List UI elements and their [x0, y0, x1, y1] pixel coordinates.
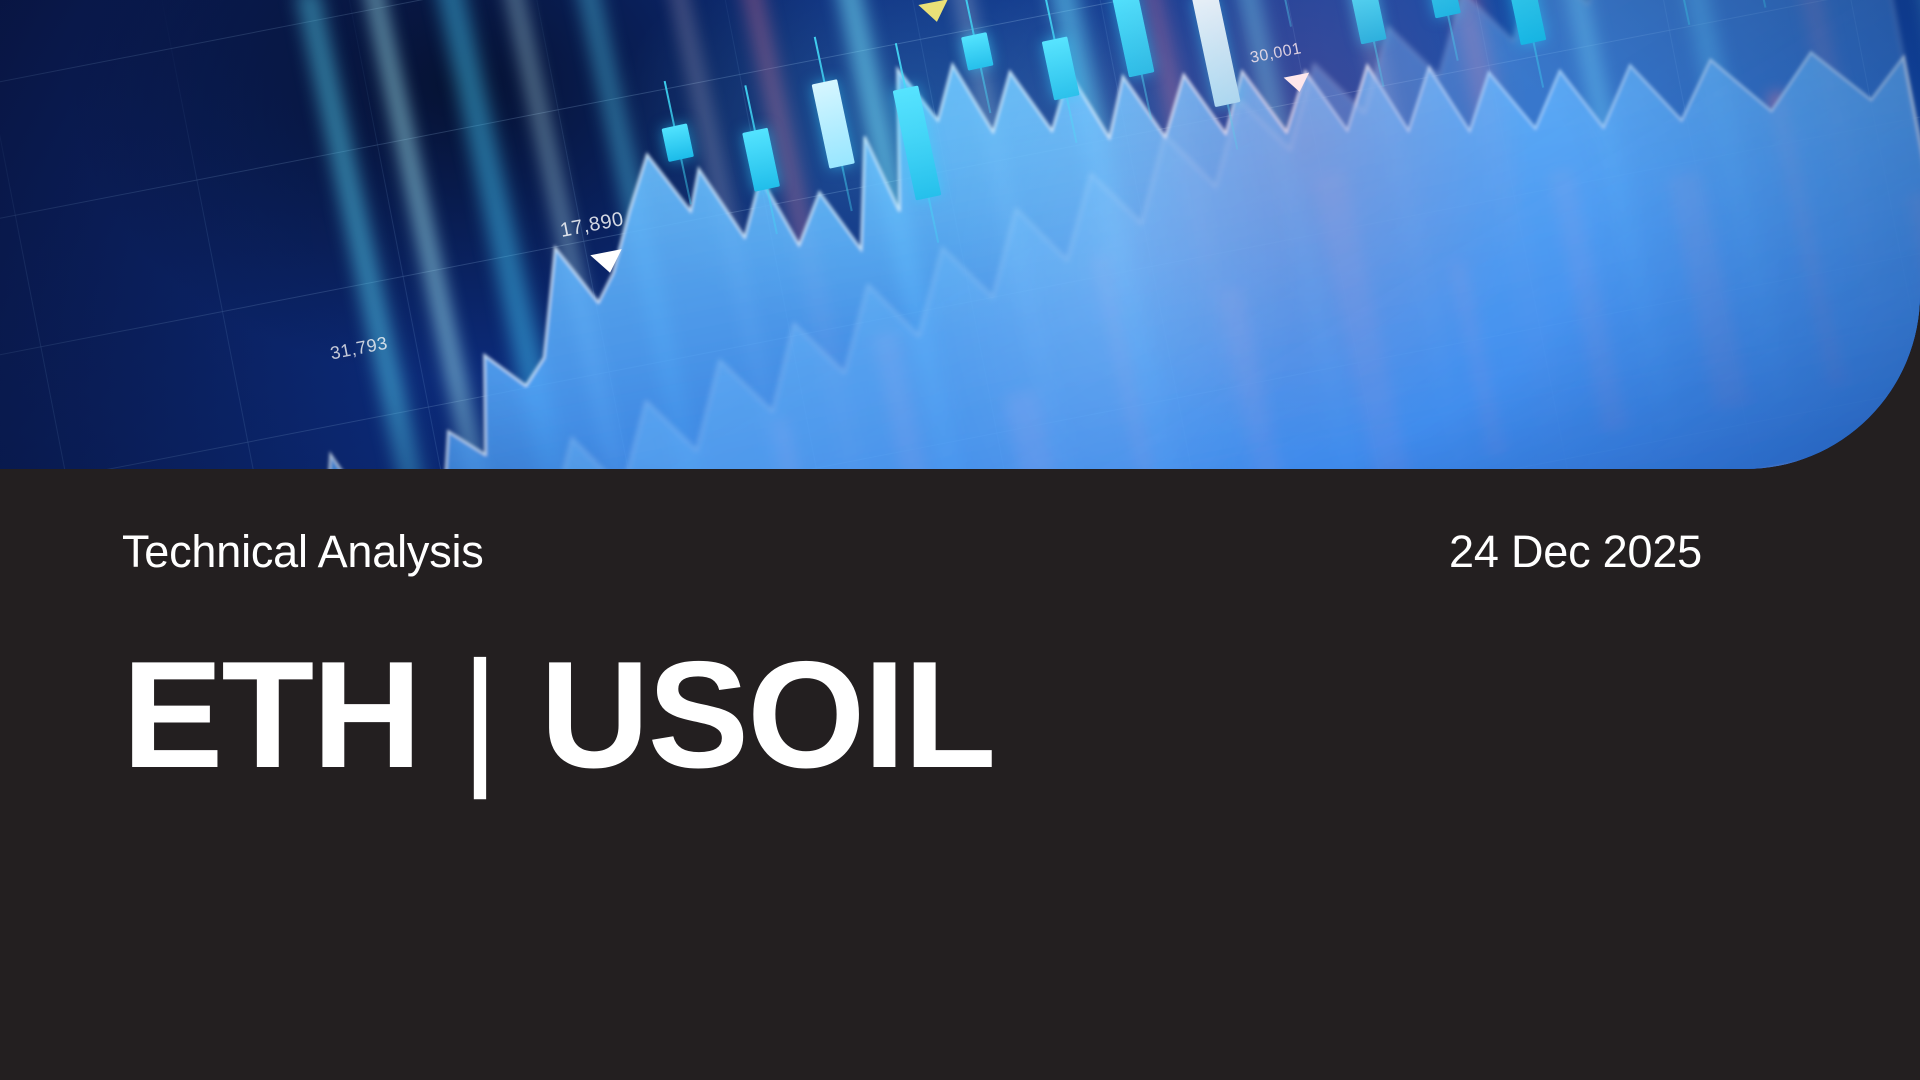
slide-root: 17,89030,00131,793 Technical Analysis 24… [0, 0, 1920, 1080]
candle-body [1349, 0, 1387, 44]
candle-body [812, 79, 855, 169]
candle-body [742, 128, 780, 192]
candle-body [1192, 0, 1241, 107]
candle-body [961, 32, 994, 71]
publish-date: 24 Dec 2025 [1449, 529, 1702, 574]
candle-wick [1264, 0, 1292, 26]
content-area: Technical Analysis 24 Dec 2025 ETH | USO… [0, 469, 1920, 1080]
candle-body [1111, 0, 1154, 77]
symbol-left: ETH [122, 630, 420, 800]
meta-row: Technical Analysis 24 Dec 2025 [122, 529, 1702, 574]
candle-wick [1657, 0, 1691, 25]
page-title: ETH | USOIL [122, 639, 994, 791]
candle-body [661, 123, 694, 162]
candle-body [1418, 0, 1461, 18]
symbol-separator: | [460, 630, 499, 800]
candle-body [893, 85, 942, 200]
candle-body [1498, 0, 1547, 45]
symbol-right: USOIL [540, 630, 994, 800]
candle-body [1042, 36, 1080, 100]
category-label: Technical Analysis [122, 529, 484, 574]
candle-wick [1727, 0, 1766, 8]
hero-banner: 17,89030,00131,793 [0, 0, 1920, 469]
